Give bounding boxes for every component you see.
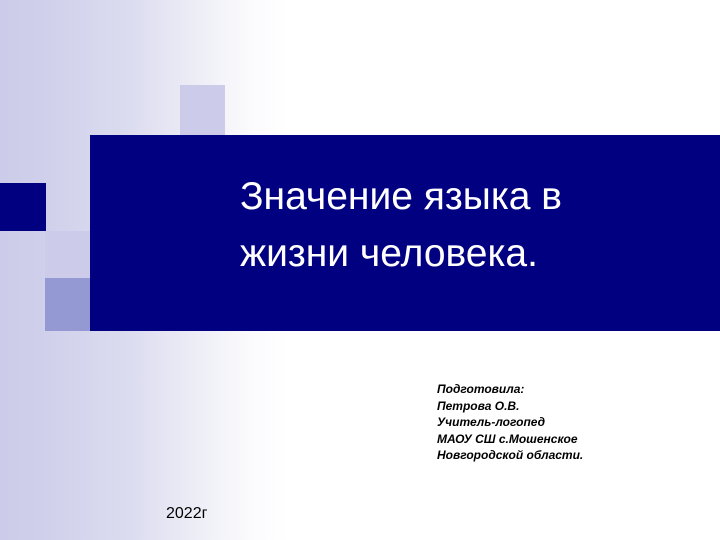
author-line-region: Новгородской области. [437,447,707,464]
author-line-prepared-by: Подготовила: [437,381,707,398]
year-label: 2022г [166,504,207,524]
author-credits: Подготовила: Петрова О.В. Учитель-логопе… [437,381,707,464]
mosaic-square-light [180,85,225,135]
title-line-1: Значение языка в [240,168,710,225]
author-line-role: Учитель-логопед [437,414,707,431]
title-line-2: жизни человека. [240,225,710,282]
author-line-school: МАОУ СШ с.Мошенское [437,431,707,448]
mosaic-square-medium [45,278,90,331]
author-line-name: Петрова О.В. [437,398,707,415]
presentation-title-slide: Значение языка в жизни человека. Подгото… [0,0,720,540]
mosaic-square-light [45,231,90,278]
page-title: Значение языка в жизни человека. [240,168,710,282]
mosaic-square-navy [0,183,46,231]
